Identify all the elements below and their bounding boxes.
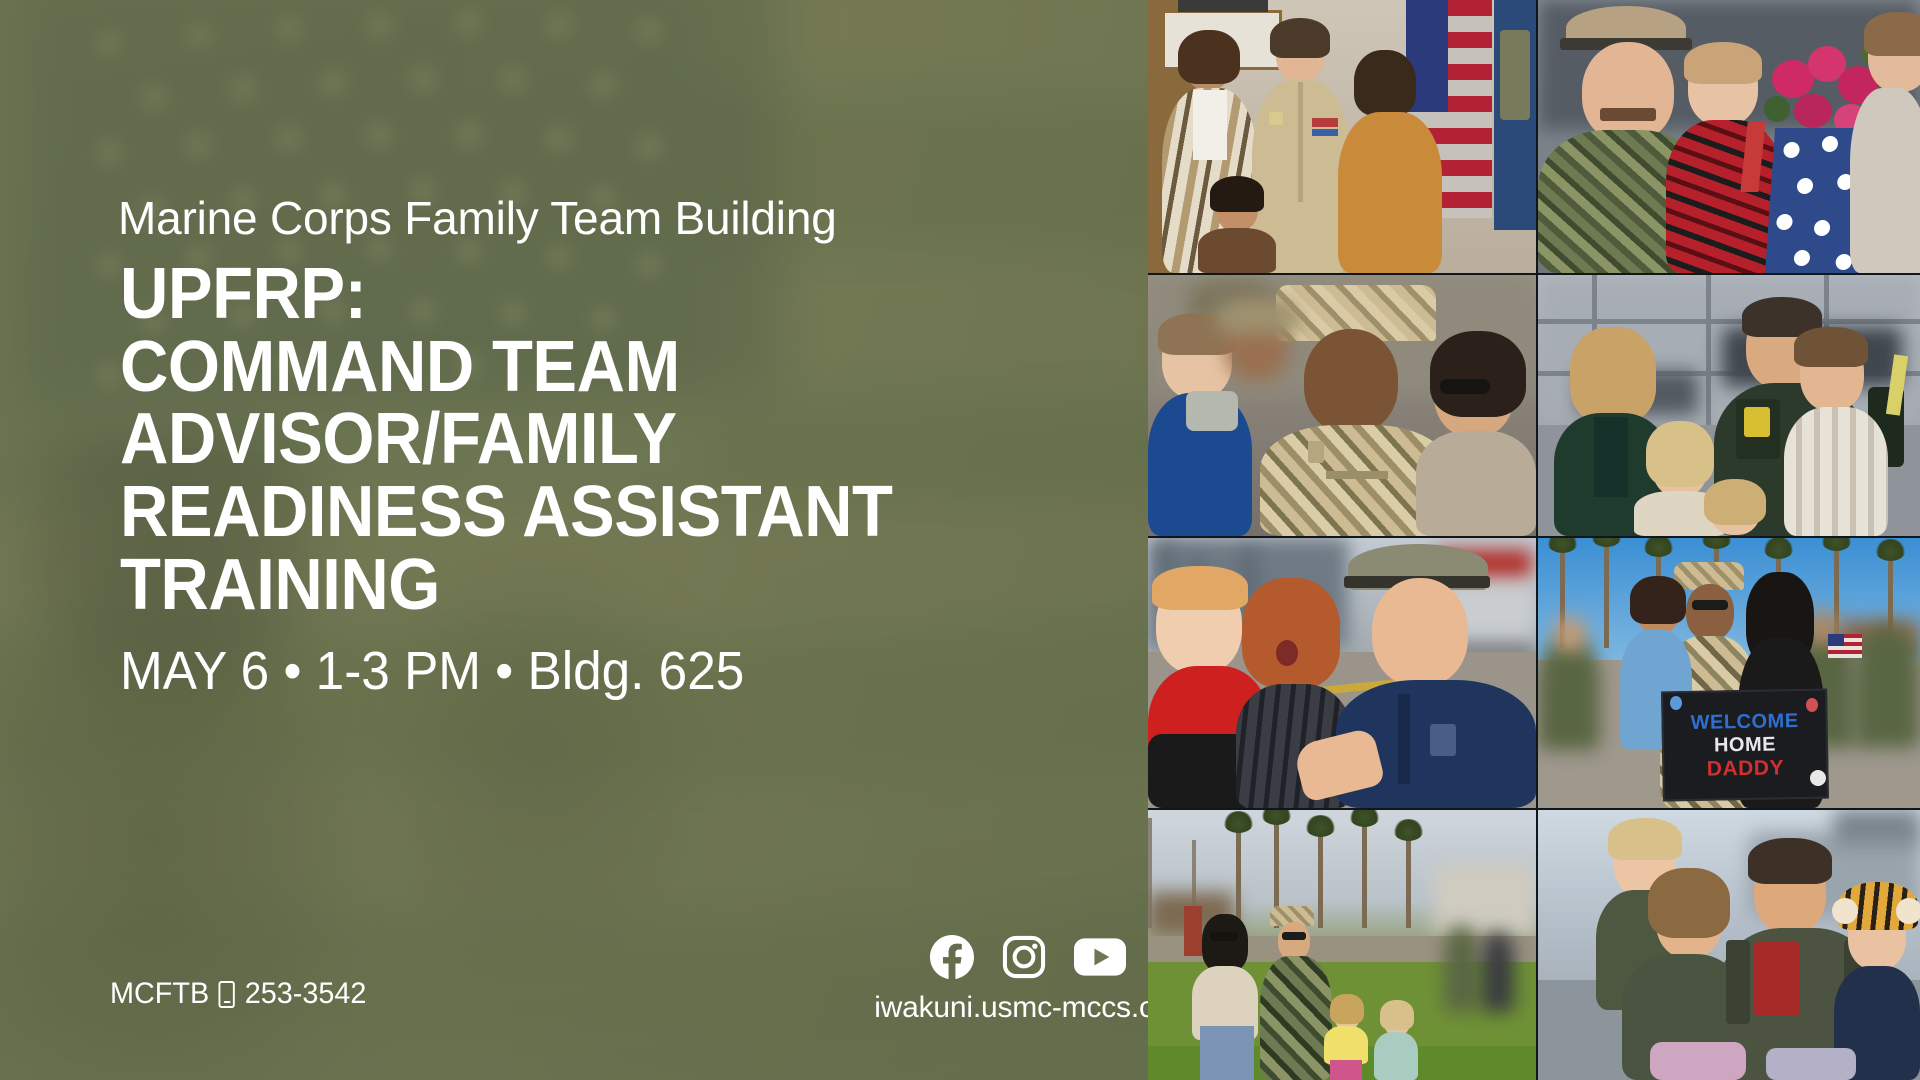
photo-family-promotion bbox=[1148, 0, 1536, 273]
website-url[interactable]: iwakuni.usmc-mccs.org bbox=[858, 991, 1150, 1025]
photo-flightline-family bbox=[1538, 810, 1920, 1080]
photo-collage-grid: WELCOME HOME DADDY bbox=[1148, 0, 1920, 1080]
sign-line-3: DADDY bbox=[1707, 757, 1785, 779]
page-title: UPFRP: COMMAND TEAM ADVISOR/FAMILY READI… bbox=[120, 258, 892, 622]
sign-line-1: WELCOME bbox=[1690, 711, 1798, 733]
welcome-home-sign: WELCOME HOME DADDY bbox=[1661, 689, 1829, 802]
sign-line-2: HOME bbox=[1714, 734, 1776, 755]
facebook-icon[interactable] bbox=[930, 935, 974, 979]
photo-marine-toddler bbox=[1148, 275, 1536, 536]
headline-line-4: READINESS ASSISTANT bbox=[120, 476, 892, 549]
photo-pier-baby bbox=[1148, 538, 1536, 808]
headline-line-3: ADVISOR/FAMILY bbox=[120, 403, 892, 476]
contact-phone-line: MCFTB 253-3542 bbox=[110, 977, 366, 1011]
instagram-icon[interactable] bbox=[1002, 935, 1046, 979]
left-content-panel: Marine Corps Family Team Building UPFRP:… bbox=[0, 0, 1150, 1080]
headline-copy-block: Marine Corps Family Team Building UPFRP:… bbox=[118, 0, 1118, 1080]
photo-sailor-baby-roses bbox=[1538, 0, 1920, 273]
phone-number: 253-3542 bbox=[245, 977, 367, 1011]
headline-line-5: TRAINING bbox=[120, 549, 892, 622]
social-and-website-block: iwakuni.usmc-mccs.org bbox=[858, 935, 1150, 1025]
photo-hangar-reunion bbox=[1538, 275, 1920, 536]
youtube-icon[interactable] bbox=[1074, 935, 1126, 979]
event-details: MAY 6 • 1-3 PM • Bldg. 625 bbox=[120, 642, 744, 701]
headline-line-2: COMMAND TEAM bbox=[120, 331, 892, 404]
headline-line-1: UPFRP: bbox=[120, 258, 892, 331]
org-abbrev-label: MCFTB bbox=[110, 977, 209, 1011]
poster-canvas: Marine Corps Family Team Building UPFRP:… bbox=[0, 0, 1920, 1080]
photo-welcome-home-sign: WELCOME HOME DADDY bbox=[1538, 538, 1920, 808]
mobile-phone-icon bbox=[219, 981, 235, 1008]
program-eyebrow: Marine Corps Family Team Building bbox=[118, 194, 837, 242]
photo-lawn-walk bbox=[1148, 810, 1536, 1080]
social-icon-row bbox=[858, 935, 1150, 979]
